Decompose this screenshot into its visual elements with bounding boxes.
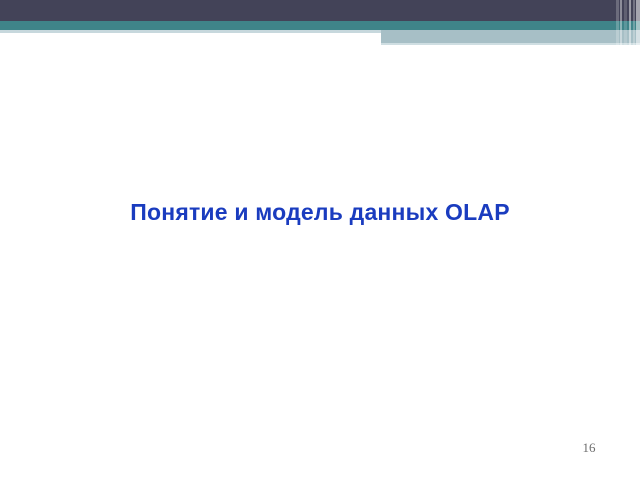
header-banner [0, 0, 640, 46]
header-accent-stripes [616, 0, 640, 46]
header-pale-wide-band-edge [381, 43, 640, 45]
accent-stripe-1 [616, 0, 619, 46]
slide-title: Понятие и модель данных OLAP [0, 199, 640, 226]
slide: Понятие и модель данных OLAP 16 [0, 0, 640, 480]
accent-stripe-4 [629, 0, 631, 46]
accent-stripe-3 [624, 0, 627, 46]
accent-stripe-5 [633, 0, 635, 46]
accent-stripe-6 [636, 0, 640, 46]
header-teal-band [0, 21, 640, 30]
accent-stripe-2 [620, 0, 622, 46]
header-dark-band [0, 0, 640, 21]
header-pale-wide-band [381, 30, 640, 43]
page-number: 16 [574, 440, 604, 456]
